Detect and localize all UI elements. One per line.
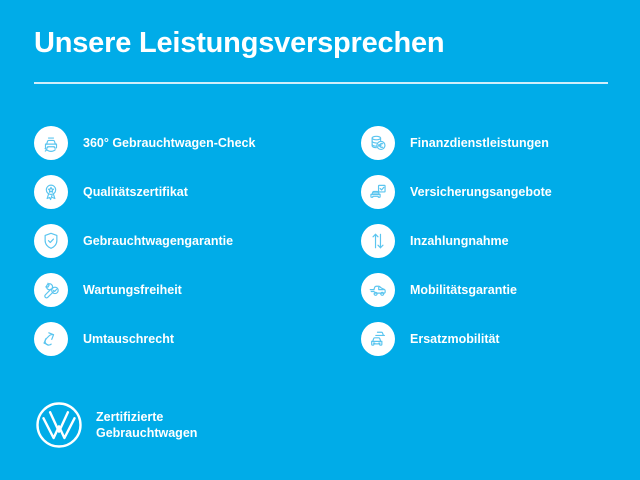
- promise-item[interactable]: Ersatzmobilität: [361, 322, 552, 356]
- brand-name: Zertifizierte Gebrauchtwagen: [96, 409, 197, 441]
- page-title: Unsere Leistungsversprechen: [34, 26, 608, 60]
- promise-item[interactable]: Inzahlungnahme: [361, 224, 552, 258]
- promise-label: Qualitätszertifikat: [83, 185, 188, 200]
- promise-label: Gebrauchtwagengarantie: [83, 234, 233, 249]
- promise-item[interactable]: Umtauschrecht: [34, 322, 255, 356]
- title-divider: [34, 82, 608, 84]
- promise-label: Inzahlungnahme: [410, 234, 509, 249]
- promise-poster: Unsere Leistungsversprechen 360° Gebrauc…: [0, 0, 640, 480]
- coins-euro-icon: [361, 126, 395, 160]
- promise-label: 360° Gebrauchtwagen-Check: [83, 136, 255, 151]
- promise-item[interactable]: Wartungsfreiheit: [34, 273, 255, 307]
- promise-label: Wartungsfreiheit: [83, 283, 182, 298]
- promise-label: Mobilitätsgarantie: [410, 283, 517, 298]
- exchange-arrows-icon: [34, 322, 68, 356]
- promise-column-right: Finanzdienstleistungen Versicherungsange…: [361, 126, 552, 356]
- volkswagen-logo-icon: [34, 400, 84, 450]
- promise-item[interactable]: Finanzdienstleistungen: [361, 126, 552, 160]
- promise-item[interactable]: Gebrauchtwagengarantie: [34, 224, 255, 258]
- promise-item[interactable]: Mobilitätsgarantie: [361, 273, 552, 307]
- promise-item[interactable]: 360° Gebrauchtwagen-Check: [34, 126, 255, 160]
- up-down-arrows-icon: [361, 224, 395, 258]
- promise-item[interactable]: Versicherungsangebote: [361, 175, 552, 209]
- brand-footer: Zertifizierte Gebrauchtwagen: [34, 400, 197, 450]
- two-cars-icon: [361, 322, 395, 356]
- brand-line-1: Zertifizierte: [96, 409, 197, 425]
- promise-label: Umtauschrecht: [83, 332, 174, 347]
- promise-label: Versicherungsangebote: [410, 185, 552, 200]
- car-insurance-document-icon: [361, 175, 395, 209]
- car-360-check-icon: [34, 126, 68, 160]
- promise-label: Ersatzmobilität: [410, 332, 500, 347]
- poster-header: Unsere Leistungsversprechen: [34, 26, 608, 84]
- wrench-check-icon: [34, 273, 68, 307]
- shield-check-icon: [34, 224, 68, 258]
- brand-line-2: Gebrauchtwagen: [96, 425, 197, 441]
- promise-item[interactable]: Qualitätszertifikat: [34, 175, 255, 209]
- promise-column-left: 360° Gebrauchtwagen-Check Qualitätszerti…: [34, 126, 255, 356]
- promise-label: Finanzdienstleistungen: [410, 136, 549, 151]
- quality-seal-icon: [34, 175, 68, 209]
- tow-car-icon: [361, 273, 395, 307]
